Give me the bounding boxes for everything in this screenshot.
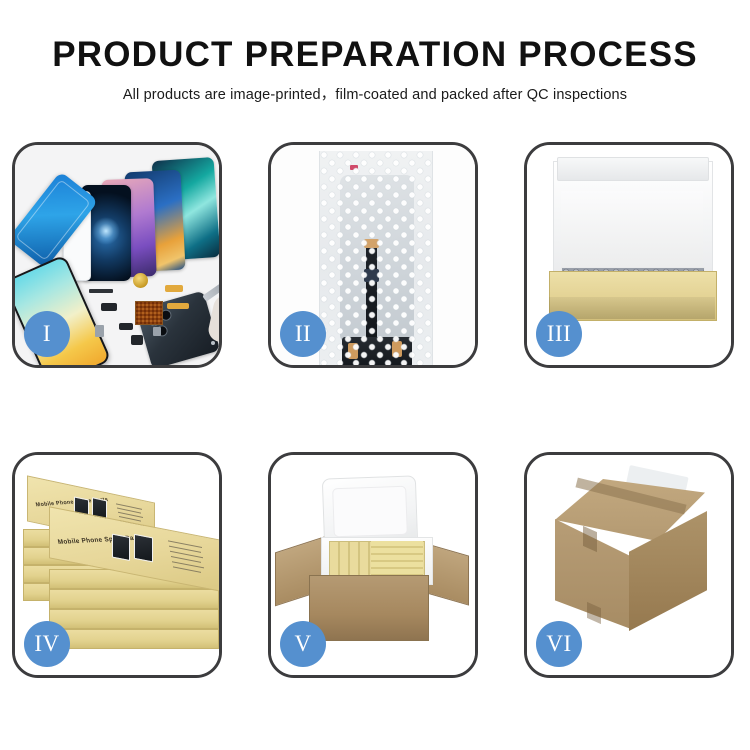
step-panel-3: III — [524, 142, 734, 368]
bubble-wrap-bag — [319, 151, 433, 365]
part-small-2 — [153, 327, 161, 336]
box-brand-text-front: Mobile Phone Spare Parts — [57, 534, 143, 546]
carton-body — [309, 575, 429, 641]
part-screw-2 — [218, 347, 219, 351]
step-badge-6: VI — [536, 621, 582, 667]
part-chip-3 — [131, 335, 143, 345]
step-panel-4: Mobile Phone Spare Parts Mobile Phone Sp… — [12, 452, 222, 678]
step-panel-5: V — [268, 452, 478, 678]
step-badge-1: I — [24, 311, 70, 357]
foam-sheet — [561, 191, 703, 267]
part-speaker-bar — [89, 289, 113, 293]
page-title: PRODUCT PREPARATION PROCESS — [0, 34, 750, 76]
steps-grid: I II — [12, 142, 738, 678]
product-preparation-infographic: PRODUCT PREPARATION PROCESS All products… — [0, 0, 750, 750]
part-chip-1 — [101, 303, 117, 311]
box-screen-print-f2 — [134, 534, 153, 563]
part-screw-1 — [211, 341, 215, 345]
box-lid-flap — [557, 157, 709, 181]
stacked-box-f3 — [49, 609, 219, 629]
step-panel-6: VI — [524, 452, 734, 678]
step-badge-3: III — [536, 311, 582, 357]
part-small-1 — [95, 325, 104, 337]
part-flex-cable-1 — [165, 285, 183, 292]
part-flex-cable-2 — [167, 303, 189, 309]
stacked-box-f4 — [49, 629, 219, 649]
header: PRODUCT PREPARATION PROCESS All products… — [0, 34, 750, 104]
step-badge-2: II — [280, 311, 326, 357]
yellow-boxes-inside-row2 — [371, 541, 423, 577]
part-screw-grid — [135, 301, 163, 325]
part-wireless-coil — [133, 273, 148, 288]
part-chip-2 — [119, 323, 133, 330]
step-badge-5: V — [280, 621, 326, 667]
stacked-box-f2 — [49, 589, 219, 609]
step-badge-4: IV — [24, 621, 70, 667]
step-panel-2: II — [268, 142, 478, 368]
box-screen-print-f1 — [112, 534, 130, 561]
page-subtitle: All products are image-printed，film-coat… — [0, 83, 750, 104]
step-panel-1: I — [12, 142, 222, 368]
